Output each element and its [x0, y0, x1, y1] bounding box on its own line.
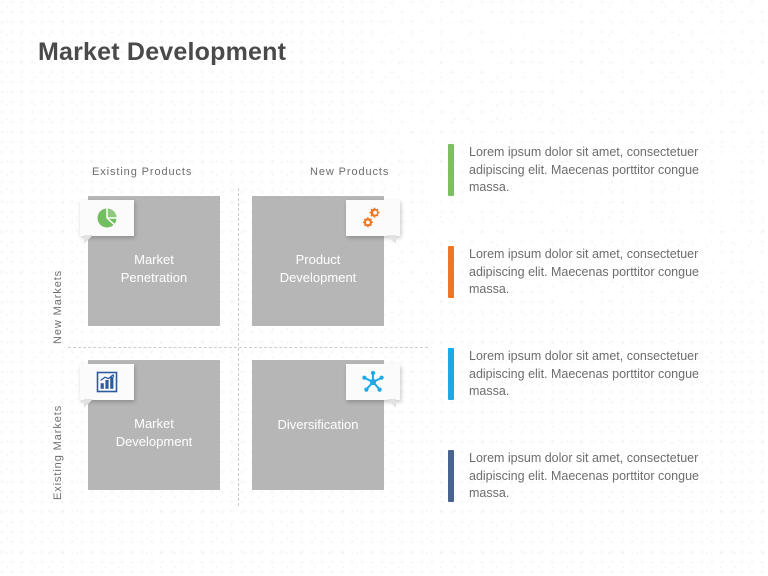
row-label-new-markets: New Markets — [52, 194, 64, 344]
bullet-text: Lorem ipsum dolor sit amet, consectetuer… — [469, 144, 731, 197]
bar-chart-icon — [96, 371, 118, 393]
pie-chart-icon-card[interactable] — [80, 200, 134, 236]
matrix-horizontal-divider — [68, 347, 428, 348]
list-item[interactable]: Lorem ipsum dolor sit amet, consectetuer… — [448, 144, 748, 196]
list-item[interactable]: Lorem ipsum dolor sit amet, consectetuer… — [448, 246, 748, 298]
bar-chart-icon-card[interactable] — [80, 364, 134, 400]
quadrant-label: Market Development — [94, 415, 214, 451]
network-hub-icon — [361, 370, 385, 394]
bullet-text: Lorem ipsum dolor sit amet, consectetuer… — [469, 450, 731, 503]
bullet-text: Lorem ipsum dolor sit amet, consectetuer… — [469, 246, 731, 299]
bullet-accent-bar-cyan — [448, 348, 454, 400]
column-header-new-products: New Products — [310, 166, 389, 178]
bullet-accent-bar-navy — [448, 450, 454, 502]
page-title: Market Development — [38, 38, 286, 67]
quadrant-label: Diversification — [272, 416, 365, 434]
slide-canvas: Market Development Existing Products New… — [0, 0, 768, 576]
gears-icon — [361, 207, 385, 229]
column-header-existing-products: Existing Products — [92, 166, 192, 178]
bullet-accent-bar-orange — [448, 246, 454, 298]
ansoff-matrix: Existing Products New Products New Marke… — [58, 166, 430, 506]
bullet-text: Lorem ipsum dolor sit amet, consectetuer… — [469, 348, 731, 401]
bullet-list: Lorem ipsum dolor sit amet, consectetuer… — [448, 144, 748, 552]
quadrant-label: Market Penetration — [94, 251, 214, 287]
row-label-existing-markets: Existing Markets — [52, 350, 64, 500]
network-hub-icon-card[interactable] — [346, 364, 400, 400]
quadrant-label: Product Development — [258, 251, 378, 287]
list-item[interactable]: Lorem ipsum dolor sit amet, consectetuer… — [448, 450, 748, 502]
gears-icon-card[interactable] — [346, 200, 400, 236]
pie-chart-icon — [96, 207, 118, 229]
bullet-accent-bar-green — [448, 144, 454, 196]
list-item[interactable]: Lorem ipsum dolor sit amet, consectetuer… — [448, 348, 748, 400]
